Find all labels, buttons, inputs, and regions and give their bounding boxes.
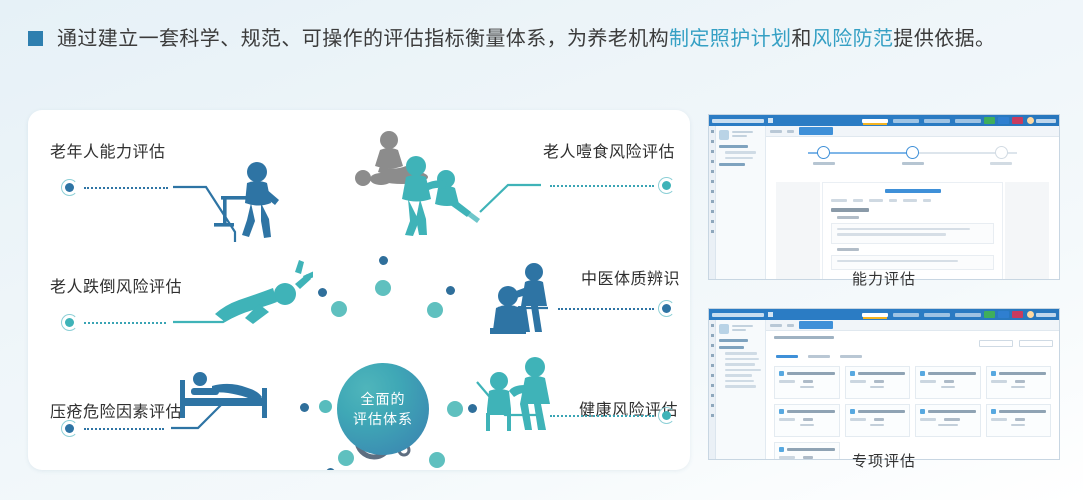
- status-chip-green[interactable]: [984, 117, 995, 124]
- sub-tab[interactable]: [840, 355, 862, 358]
- square-bullet-icon: [28, 31, 43, 46]
- assessment-card[interactable]: [774, 366, 840, 399]
- node-label-choking: 老人噎食风险评估: [543, 138, 675, 162]
- form-right-gutter: [1005, 182, 1049, 280]
- walker-person-icon: [211, 160, 285, 247]
- node-marker-pressure[interactable]: [61, 420, 78, 437]
- card-icon: [991, 371, 996, 376]
- header-text-part1: 通过建立一套科学、规范、可操作的评估指标衡量体系，为养老机构: [57, 28, 669, 50]
- app-topbar: [709, 309, 1059, 320]
- card-icon: [850, 409, 855, 414]
- card-icon: [920, 409, 925, 414]
- node-label-fall: 老人跌倒风险评估: [50, 273, 182, 297]
- status-chip-green[interactable]: [984, 311, 995, 318]
- satellite-dot: [326, 468, 335, 470]
- step-3[interactable]: [990, 146, 1012, 165]
- form-card: [822, 182, 1003, 280]
- sidebar[interactable]: [716, 126, 766, 279]
- node-dotline-tcm: [558, 308, 654, 310]
- node-marker-ability[interactable]: [61, 179, 78, 196]
- card-icon: [920, 371, 925, 376]
- node-marker-fall[interactable]: [61, 314, 78, 331]
- sidebar-group[interactable]: [719, 339, 762, 342]
- node-label-tcm: 中医体质辨识: [581, 265, 680, 289]
- sidebar-avatar: [719, 324, 729, 334]
- nav-item[interactable]: [924, 313, 950, 317]
- satellite-dot: [319, 400, 332, 413]
- sub-tab-active[interactable]: [776, 355, 798, 358]
- choking-aid-icon: [398, 154, 490, 241]
- avatar[interactable]: [1027, 311, 1034, 318]
- satellite-dot: [447, 401, 463, 417]
- falling-person-icon: [203, 260, 313, 331]
- header-highlight-care-plan: 制定照护计划: [669, 28, 791, 50]
- header-text: 通过建立一套科学、规范、可操作的评估指标衡量体系，为养老机构制定照护计划和风险防…: [57, 22, 995, 57]
- nav-item[interactable]: [893, 119, 919, 123]
- toolbar-button-right[interactable]: [1019, 340, 1053, 347]
- tab-bar[interactable]: [766, 320, 1059, 331]
- status-chip-blue[interactable]: [998, 117, 1009, 124]
- satellite-dot: [429, 452, 445, 468]
- toolbar-button-left[interactable]: [979, 340, 1013, 347]
- section-heading: [831, 208, 869, 212]
- node-dotline-choking: [550, 185, 654, 187]
- satellite-dot: [379, 256, 388, 265]
- node-dotline-fall: [84, 322, 166, 324]
- tab-active[interactable]: [799, 127, 833, 135]
- nav-item[interactable]: [924, 119, 950, 123]
- node-dotline-ability: [84, 187, 168, 189]
- main-panel: [766, 320, 1059, 459]
- sidebar-avatar: [719, 130, 729, 140]
- step-1[interactable]: [813, 146, 835, 165]
- section-subheading: [837, 216, 859, 219]
- card-icon: [779, 409, 784, 414]
- form-left-gutter: [776, 182, 820, 280]
- card-icon: [779, 371, 784, 376]
- nav-item-active[interactable]: [862, 313, 888, 317]
- sidebar[interactable]: [716, 320, 766, 459]
- menu-toggle-icon[interactable]: [768, 118, 773, 123]
- app-logo: [712, 313, 764, 317]
- section-subheading: [837, 248, 859, 251]
- tab-bar[interactable]: [766, 126, 1059, 137]
- sub-tab-bar[interactable]: [776, 355, 1059, 361]
- health-check-icon: [483, 355, 569, 438]
- header-banner: 通过建立一套科学、规范、可操作的评估指标衡量体系，为养老机构制定照护计划和风险防…: [0, 0, 1083, 100]
- main-panel: [766, 126, 1059, 279]
- ability-assessment-screenshot[interactable]: [708, 114, 1060, 280]
- satellite-dot: [468, 404, 477, 413]
- diagram-card: 全面的 评估体系: [28, 110, 690, 470]
- card-icon: [991, 409, 996, 414]
- step-2[interactable]: [902, 146, 924, 165]
- screenshot-caption-special: 专项评估: [708, 450, 1060, 471]
- satellite-dot: [300, 403, 309, 412]
- header-highlight-risk: 风险防范: [812, 28, 894, 50]
- nav-item[interactable]: [955, 119, 981, 123]
- status-chip-blue[interactable]: [998, 311, 1009, 318]
- breadcrumb: [774, 336, 834, 339]
- assessment-card[interactable]: [915, 366, 981, 399]
- menu-toggle-icon[interactable]: [768, 312, 773, 317]
- assessment-form: [776, 182, 1049, 280]
- satellite-dot: [427, 302, 443, 318]
- assessment-card[interactable]: [986, 404, 1052, 437]
- special-assessment-screenshot[interactable]: [708, 308, 1060, 460]
- node-label-ability: 老年人能力评估: [50, 138, 166, 162]
- hub-circle: 全面的 评估体系: [337, 363, 429, 455]
- tcm-consult-icon: [488, 258, 564, 343]
- assessment-card[interactable]: [774, 404, 840, 437]
- sidebar-user: [719, 130, 762, 140]
- node-label-pressure: 压疮危险因素评估: [50, 398, 182, 422]
- node-marker-choking[interactable]: [658, 177, 675, 194]
- sub-tab[interactable]: [808, 355, 830, 358]
- app-logo: [712, 119, 764, 123]
- question-box[interactable]: [831, 223, 994, 244]
- hub-line-1: 全面的: [361, 389, 406, 409]
- sidebar-group[interactable]: [719, 145, 762, 159]
- user-name-label: [1036, 119, 1056, 123]
- status-chip-red[interactable]: [1012, 117, 1023, 124]
- sidebar-user: [719, 324, 762, 334]
- nav-item-active[interactable]: [862, 119, 888, 123]
- bed-patient-icon: [176, 360, 280, 427]
- header-text-part2: 提供依据。: [893, 28, 995, 50]
- satellite-dot: [318, 288, 327, 297]
- app-body: [709, 126, 1059, 279]
- assessment-card[interactable]: [986, 366, 1052, 399]
- app-topbar: [709, 115, 1059, 126]
- assessment-card[interactable]: [915, 404, 981, 437]
- node-marker-health[interactable]: [658, 407, 675, 424]
- sidebar-group[interactable]: [719, 346, 762, 388]
- satellite-dot: [375, 280, 391, 296]
- icon-rail: [709, 320, 716, 459]
- nav-item[interactable]: [955, 313, 981, 317]
- tab-active[interactable]: [799, 321, 833, 329]
- node-marker-tcm[interactable]: [658, 300, 675, 317]
- node-dotline-pressure: [84, 428, 164, 430]
- header-text-mid: 和: [791, 28, 811, 50]
- assessment-card-grid: [774, 366, 1051, 460]
- card-icon: [850, 371, 855, 376]
- icon-rail: [709, 126, 716, 279]
- sidebar-group[interactable]: [719, 163, 762, 166]
- status-chip-red[interactable]: [1012, 311, 1023, 318]
- avatar[interactable]: [1027, 117, 1034, 124]
- satellite-dot: [331, 301, 347, 317]
- screenshot-caption-ability: 能力评估: [708, 268, 1060, 289]
- assessment-card[interactable]: [845, 404, 911, 437]
- assessment-card[interactable]: [845, 366, 911, 399]
- user-name-label: [1036, 313, 1056, 317]
- nav-item[interactable]: [893, 313, 919, 317]
- satellite-dot: [446, 286, 455, 295]
- hub-line-2: 评估体系: [353, 409, 413, 429]
- app-body: [709, 320, 1059, 459]
- assessment-stepper: [782, 144, 1043, 178]
- form-title: [885, 189, 941, 193]
